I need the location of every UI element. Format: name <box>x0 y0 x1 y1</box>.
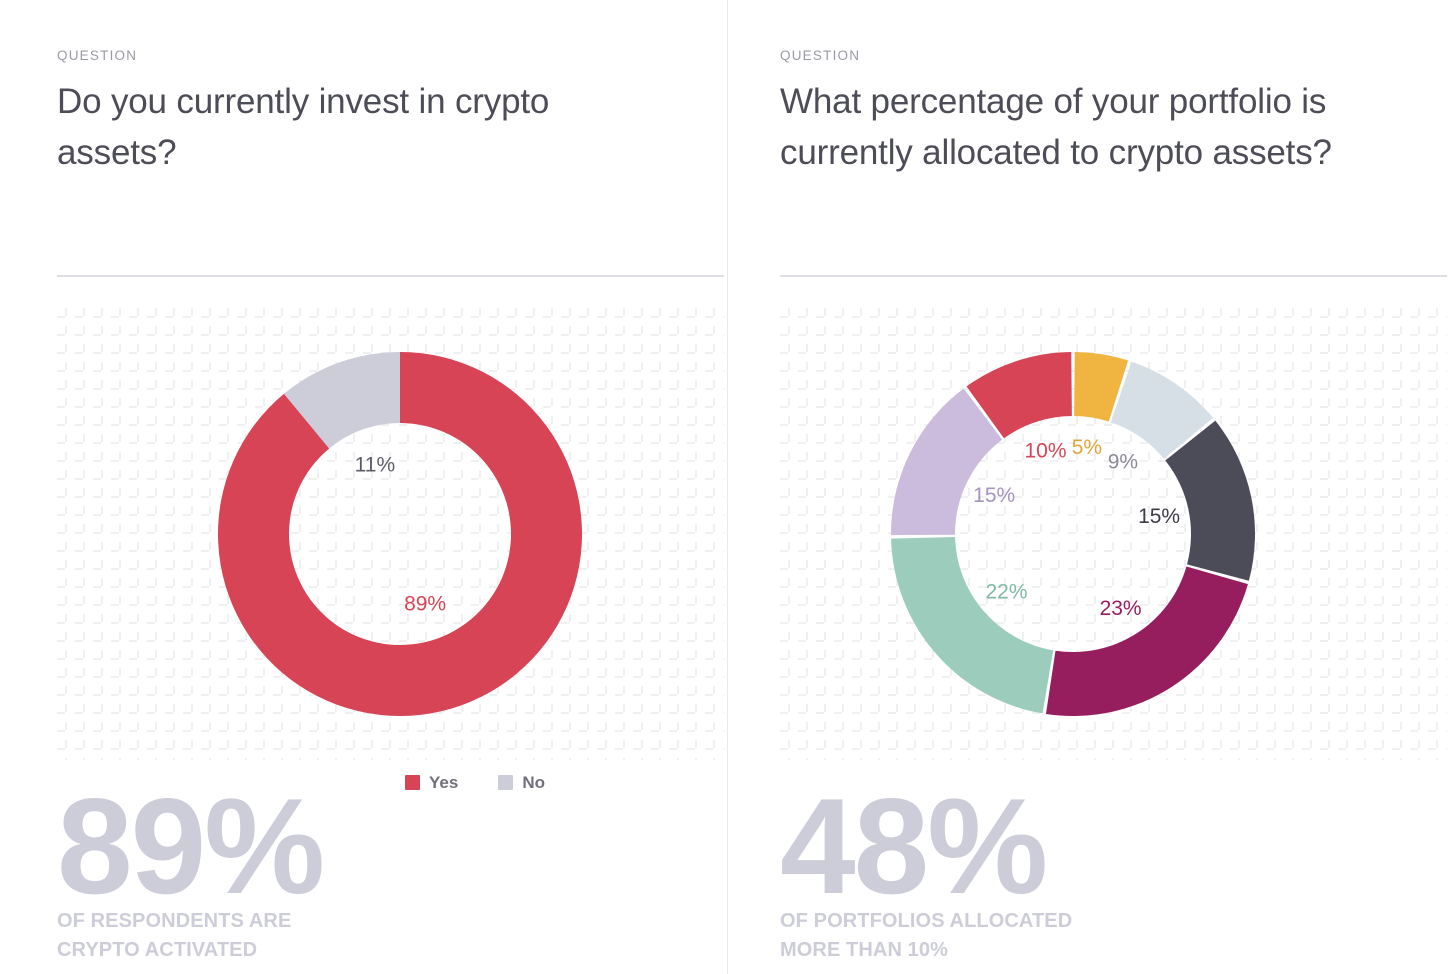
donut-slice <box>1046 567 1248 716</box>
stat-number-left: 89% <box>57 792 323 901</box>
donut-slice <box>891 537 1053 713</box>
donut-slice-label: 22% <box>985 581 1027 604</box>
donut-labels-right: 5%9%15%23%22%15%10% <box>973 436 1180 620</box>
question-title-right: What percentage of your portfolio is cur… <box>780 76 1400 178</box>
legend-label: No <box>522 773 545 793</box>
donut-slice-label: 5% <box>1072 436 1102 459</box>
legend-swatch-icon <box>405 775 420 790</box>
panel-crypto-invest: QUESTION Do you currently invest in cryp… <box>0 0 727 974</box>
legend-item[interactable]: Yes <box>405 770 458 795</box>
donut-slices-right <box>891 352 1255 716</box>
donut-slice-label: 10% <box>1024 439 1066 462</box>
donut-slices-left <box>218 352 582 716</box>
divider-right <box>780 275 1447 277</box>
donut-chart-invest: 89%11% <box>174 308 626 760</box>
donut-chart-allocation: 5%9%15%23%22%15%10% <box>847 308 1299 760</box>
stat-number-right: 48% <box>780 792 1072 901</box>
donut-slice-label: 11% <box>355 453 395 476</box>
legend-swatch-icon <box>498 775 513 790</box>
stat-block-left: 89% OF RESPONDENTS ARE CRYPTO ACTIVATED <box>57 792 323 964</box>
infographic-board: QUESTION Do you currently invest in cryp… <box>0 0 1454 974</box>
panel-portfolio-allocation: QUESTION What percentage of your portfol… <box>727 0 1454 974</box>
kicker-question-right: QUESTION <box>780 48 860 63</box>
question-title-left: Do you currently invest in crypto assets… <box>57 76 587 178</box>
donut-slice-label: 89% <box>404 593 446 616</box>
donut-slice-label: 23% <box>1100 597 1142 620</box>
legend-label: Yes <box>429 773 458 793</box>
donut-slice-label: 15% <box>973 484 1015 507</box>
legend-item[interactable]: No <box>498 770 545 795</box>
donut-labels-left: 89%11% <box>355 453 446 615</box>
divider-left <box>57 275 724 277</box>
legend-left: YesNo <box>405 770 545 795</box>
stat-caption-left: OF RESPONDENTS ARE CRYPTO ACTIVATED <box>57 907 323 964</box>
donut-slice-label: 15% <box>1138 505 1180 528</box>
kicker-question-left: QUESTION <box>57 48 137 63</box>
donut-slice-label: 9% <box>1108 451 1138 474</box>
donut-svg-right: 5%9%15%23%22%15%10% <box>847 308 1299 760</box>
stat-block-right: 48% OF PORTFOLIOS ALLOCATED MORE THAN 10… <box>780 792 1072 964</box>
panel-separator <box>727 0 728 974</box>
donut-svg-left: 89%11% <box>174 308 626 760</box>
stat-caption-right: OF PORTFOLIOS ALLOCATED MORE THAN 10% <box>780 907 1072 964</box>
